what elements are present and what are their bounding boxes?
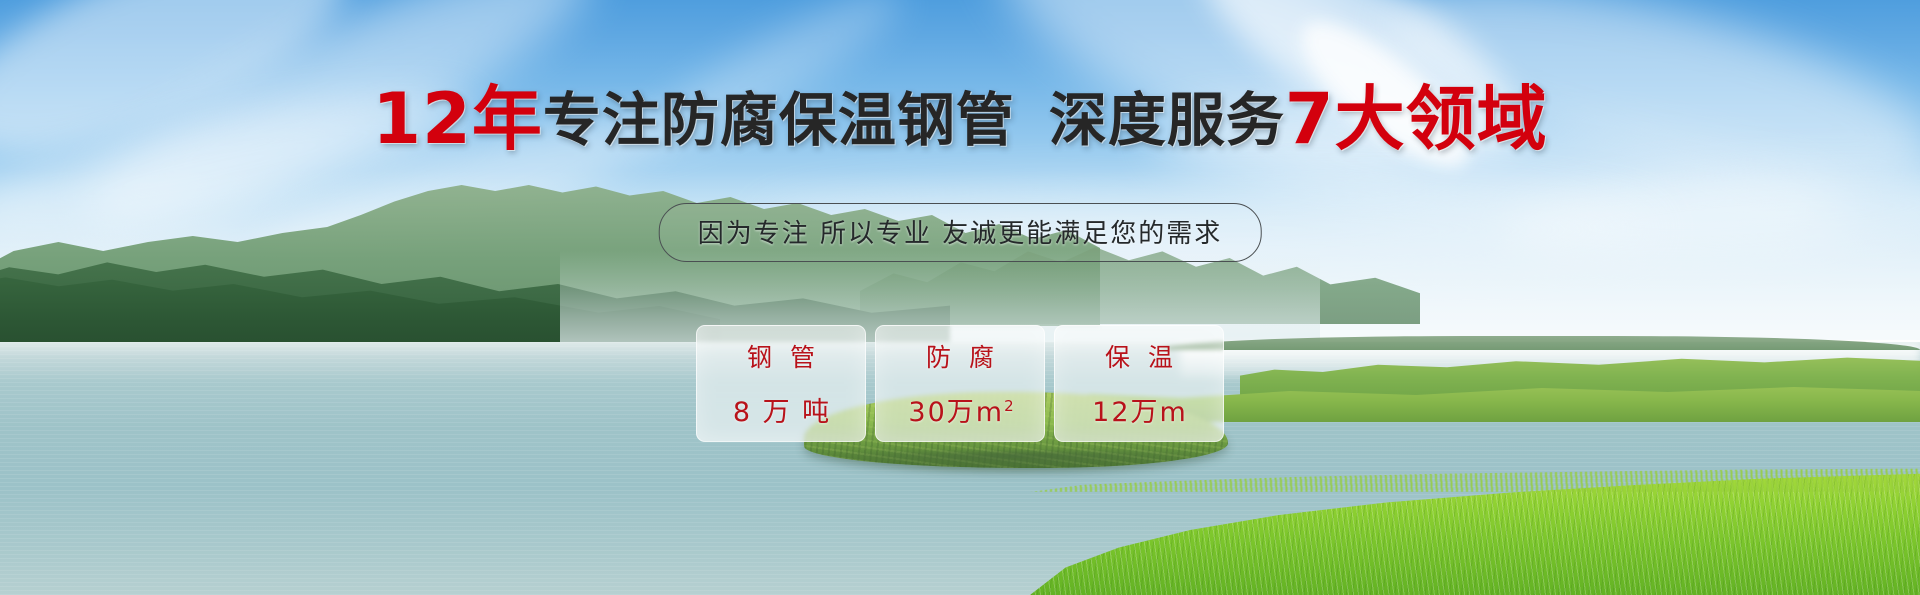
stat-card-steel-pipe[interactable]: 钢 管 8 万 吨 xyxy=(696,325,866,442)
headline-years-number: 12 xyxy=(372,78,471,160)
headline-fields-number: 7 xyxy=(1285,78,1335,160)
banner-subtitle-pill: 因为专注 所以专业 友诚更能满足您的需求 xyxy=(659,203,1262,262)
headline-service-text: 深度服务 xyxy=(1049,86,1285,154)
stat-card-value: 30万m2 xyxy=(906,390,1013,429)
stat-card-value-text: 12万m xyxy=(1092,397,1188,428)
stat-card-insulation[interactable]: 保 温 12万m xyxy=(1054,325,1224,442)
headline-fields-text: 大领域 xyxy=(1335,78,1548,160)
headline-main-text: 专注防腐保温钢管 xyxy=(543,86,1015,154)
stat-card-anticorrosion[interactable]: 防 腐 30万m2 xyxy=(875,325,1045,442)
stat-card-value-text: 30万m xyxy=(908,397,1004,428)
hero-banner: 12年专注防腐保温钢管深度服务7大领域 因为专注 所以专业 友诚更能满足您的需求… xyxy=(0,0,1920,595)
stat-card-value-text: 8 万 吨 xyxy=(733,397,831,428)
stat-card-title: 防 腐 xyxy=(921,338,999,374)
stat-card-title: 钢 管 xyxy=(742,338,820,374)
banner-headline: 12年专注防腐保温钢管深度服务7大领域 xyxy=(0,88,1920,151)
stat-card-value: 12万m xyxy=(1090,390,1188,429)
stat-card-row: 钢 管 8 万 吨 防 腐 30万m2 保 温 12万m xyxy=(696,325,1224,442)
stat-card-value-superscript: 2 xyxy=(1004,397,1014,415)
stat-card-value: 8 万 吨 xyxy=(731,390,831,429)
banner-content: 12年专注防腐保温钢管深度服务7大领域 因为专注 所以专业 友诚更能满足您的需求… xyxy=(0,0,1920,595)
stat-card-title: 保 温 xyxy=(1100,338,1178,374)
headline-years-unit: 年 xyxy=(472,78,543,160)
